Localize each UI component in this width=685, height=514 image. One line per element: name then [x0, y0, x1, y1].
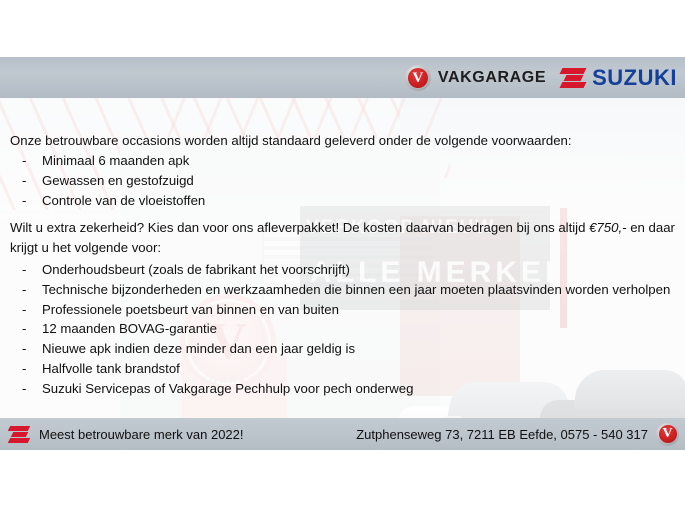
list-item: - 12 maanden BOVAG-garantie: [0, 319, 685, 339]
list-item-label: Suzuki Servicepas of Vakgarage Pechhulp …: [42, 381, 413, 396]
intro-paragraph: Onze betrouwbare occasions worden altijd…: [10, 131, 678, 151]
bullet-dash: -: [22, 280, 26, 300]
bullet-dash: -: [22, 171, 26, 191]
bullet-dash: -: [22, 300, 26, 320]
offer-paragraph: Wilt u extra zekerheid? Kies dan voor on…: [10, 218, 678, 257]
suzuki-wordmark: SUZUKI: [592, 67, 677, 89]
bullet-dash: -: [22, 339, 26, 359]
list-item: - Onderhoudsbeurt (zoals de fabrikant he…: [0, 260, 685, 280]
list-item: - Suzuki Servicepas of Vakgarage Pechhul…: [0, 379, 685, 399]
list-item-label: Nieuwe apk indien deze minder dan een ja…: [42, 341, 355, 356]
list-item-label: Gewassen en gestofzuigd: [42, 173, 194, 188]
bullet-dash: -: [22, 260, 26, 280]
header-logo-group: VAKGARAGE SUZUKI: [405, 57, 685, 98]
list-item-label: Controle van de vloeistoffen: [42, 193, 205, 208]
footer-bar: Meest betrouwbare merk van 2022! Zutphen…: [0, 418, 685, 450]
list-item-label: 12 maanden BOVAG-garantie: [42, 321, 217, 336]
footer-contact-group: Zutphenseweg 73, 7211 EB Eefde, 0575 - 5…: [356, 418, 679, 450]
list-item: - Minimaal 6 maanden apk: [0, 151, 685, 171]
list-item-label: Minimaal 6 maanden apk: [42, 153, 189, 168]
footer-tagline-group: Meest betrouwbare merk van 2022!: [8, 418, 244, 450]
list-item: - Nieuwe apk indien deze minder dan een …: [0, 339, 685, 359]
slide-canvas: VAKGARAGE VERKOOP NIEUW ALLE MERKEN: [0, 0, 685, 514]
suzuki-s-icon: [560, 67, 586, 89]
list-item: - Halfvolle tank brandstof: [0, 359, 685, 379]
offer-text-before-price: Wilt u extra zekerheid? Kies dan voor on…: [10, 220, 589, 235]
offer-price: €750,-: [589, 220, 626, 235]
footer-contact: Zutphenseweg 73, 7211 EB Eefde, 0575 - 5…: [356, 428, 648, 441]
list-item: - Professionele poetsbeurt van binnen en…: [0, 300, 685, 320]
offer-bullet-list: - Onderhoudsbeurt (zoals de fabrikant he…: [0, 260, 685, 399]
list-item: - Gewassen en gestofzuigd: [0, 171, 685, 191]
bullet-dash: -: [22, 151, 26, 171]
bottom-white-margin: [0, 450, 685, 514]
bullet-dash: -: [22, 191, 26, 211]
list-item-label: Professionele poetsbeurt van binnen en v…: [42, 302, 339, 317]
vakgarage-v-icon: [656, 423, 679, 446]
vakgarage-logo: VAKGARAGE: [405, 65, 546, 91]
bullet-dash: -: [22, 319, 26, 339]
vakgarage-v-icon: [405, 65, 431, 91]
bullet-dash: -: [22, 359, 26, 379]
suzuki-s-icon: [8, 425, 30, 444]
suzuki-logo: SUZUKI: [560, 67, 677, 89]
intro-bullet-list: - Minimaal 6 maanden apk - Gewassen en g…: [0, 151, 685, 210]
list-item-label: Technische bijzonderheden en werkzaamhed…: [42, 282, 670, 297]
vakgarage-wordmark: VAKGARAGE: [438, 70, 546, 86]
list-item-label: Onderhoudsbeurt (zoals de fabrikant het …: [42, 262, 350, 277]
footer-tagline: Meest betrouwbare merk van 2022!: [39, 428, 244, 441]
list-item: - Technische bijzonderheden en werkzaamh…: [0, 280, 685, 300]
header-bar: VAKGARAGE SUZUKI: [0, 57, 685, 98]
content-area: Onze betrouwbare occasions worden altijd…: [0, 98, 685, 418]
list-item: - Controle van de vloeistoffen: [0, 191, 685, 211]
bullet-dash: -: [22, 379, 26, 399]
list-item-label: Halfvolle tank brandstof: [42, 361, 180, 376]
